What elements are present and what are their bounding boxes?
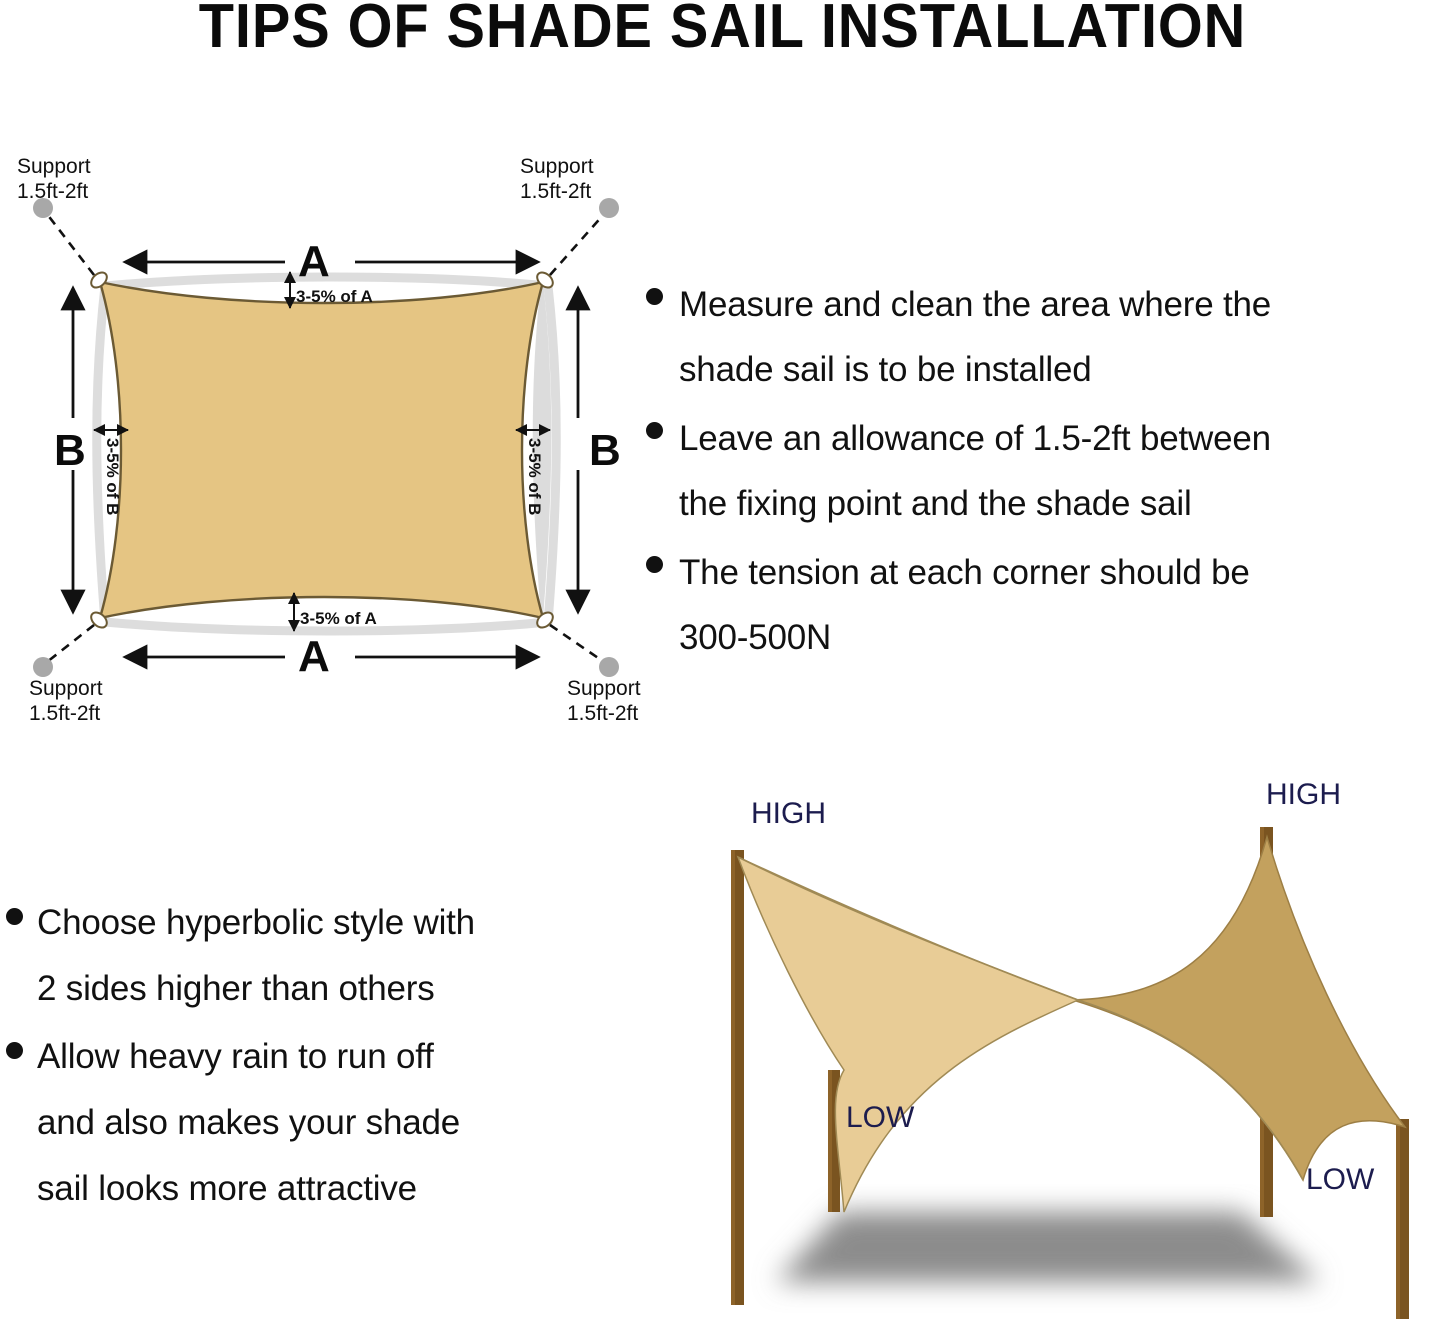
hyperbolic-sail-illustration: HIGH HIGH LOW LOW — [648, 782, 1445, 1319]
support-title-top-right: Support — [520, 155, 594, 178]
bullet-dot-icon — [646, 288, 663, 305]
install-tip-text-3: The tension at each corner should be 300… — [679, 540, 1250, 670]
support-label-bottom-left: Support 1.5ft-2ft — [29, 677, 103, 725]
list-item: Allow heavy rain to run off and also mak… — [6, 1024, 631, 1222]
dimension-label-bottom-a: A — [298, 632, 330, 681]
curve-label-right: 3-5% of B — [525, 438, 544, 515]
list-item: Measure and clean the area where the sha… — [646, 272, 1445, 402]
post-back-left — [731, 850, 744, 1305]
label-high-right: HIGH — [1266, 782, 1341, 811]
hyperbolic-tip-line: and also makes your shade — [37, 1103, 460, 1142]
sail-dimension-diagram: Support 1.5ft-2ft Support 1.5ft-2ft Supp… — [0, 150, 660, 740]
label-high-left: HIGH — [751, 797, 826, 830]
post-front-right — [1396, 1119, 1409, 1319]
dimension-label-right-b: B — [589, 426, 621, 475]
curve-label-top: 3-5% of A — [296, 287, 373, 306]
install-tip-line: 300-500N — [679, 618, 831, 657]
install-tip-line: Measure and clean the area where the — [679, 285, 1271, 324]
bullet-dot-icon — [6, 1042, 23, 1059]
support-value-bottom-left: 1.5ft-2ft — [29, 702, 100, 725]
install-tip-line: The tension at each corner should be — [679, 553, 1250, 592]
hyperbolic-tip-line: Choose hyperbolic style with — [37, 903, 475, 942]
install-tip-text-1: Measure and clean the area where the sha… — [679, 272, 1271, 402]
support-label-top-right: Support 1.5ft-2ft — [520, 155, 594, 203]
support-value-top-left: 1.5ft-2ft — [17, 180, 88, 203]
dimension-label-top-a: A — [298, 237, 330, 286]
support-title-bottom-left: Support — [29, 677, 103, 700]
list-item: Leave an allowance of 1.5-2ft between th… — [646, 406, 1445, 536]
hyperbolic-tip-text-1: Choose hyperbolic style with 2 sides hig… — [37, 890, 475, 1022]
hyperbolic-tips-list: Choose hyperbolic style with 2 sides hig… — [6, 890, 631, 1224]
label-low-left: LOW — [846, 1101, 915, 1134]
hyperbolic-tip-line: Allow heavy rain to run off — [37, 1037, 434, 1076]
ground-shadow — [776, 1212, 1320, 1282]
hyperbolic-tip-line: 2 sides higher than others — [37, 969, 435, 1008]
curve-label-left: 3-5% of B — [103, 438, 122, 515]
curve-label-bottom: 3-5% of A — [300, 609, 377, 628]
sail-panel-left — [738, 857, 1078, 1212]
support-value-top-right: 1.5ft-2ft — [520, 180, 591, 203]
install-tips-list: Measure and clean the area where the sha… — [646, 272, 1445, 674]
list-item: The tension at each corner should be 300… — [646, 540, 1445, 670]
install-tip-line: shade sail is to be installed — [679, 350, 1092, 389]
list-item: Choose hyperbolic style with 2 sides hig… — [6, 890, 631, 1022]
support-title-bottom-right: Support — [567, 677, 641, 700]
bullet-dot-icon — [646, 422, 663, 439]
dimension-label-left-b: B — [54, 426, 86, 475]
install-tip-line: the fixing point and the shade sail — [679, 484, 1192, 523]
sail-panel-right — [1073, 837, 1405, 1180]
install-tip-text-2: Leave an allowance of 1.5-2ft between th… — [679, 406, 1271, 536]
hyperbolic-tip-line: sail looks more attractive — [37, 1169, 417, 1208]
support-title-top-left: Support — [17, 155, 91, 178]
shade-sail-shape — [100, 282, 543, 618]
bullet-dot-icon — [646, 556, 663, 573]
support-label-top-left: Support 1.5ft-2ft — [17, 155, 91, 203]
support-label-bottom-right: Support 1.5ft-2ft — [567, 677, 641, 725]
page-title: TIPS OF SHADE SAIL INSTALLATION — [51, 0, 1395, 59]
support-value-bottom-right: 1.5ft-2ft — [567, 702, 638, 725]
bullet-dot-icon — [6, 908, 23, 925]
label-low-right: LOW — [1306, 1163, 1375, 1196]
install-tip-line: Leave an allowance of 1.5-2ft between — [679, 419, 1271, 458]
hyperbolic-tip-text-2: Allow heavy rain to run off and also mak… — [37, 1024, 460, 1222]
